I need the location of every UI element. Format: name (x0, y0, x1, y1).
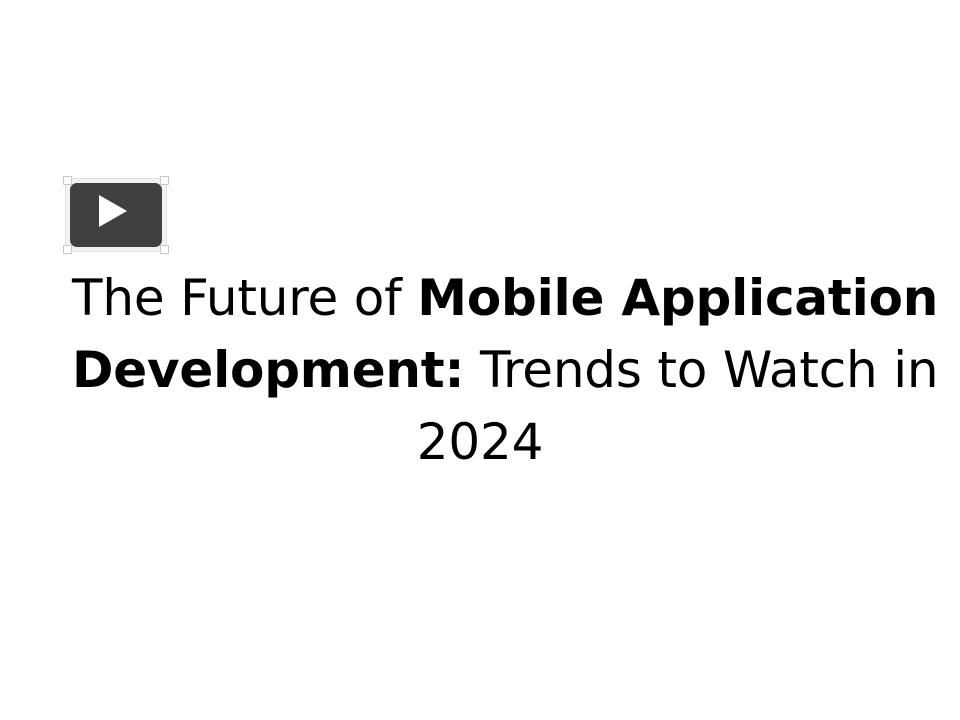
title-run-regular: 2024 (417, 413, 543, 471)
title-line-3: 2024 (72, 406, 888, 478)
title-run-bold: Development: (72, 341, 464, 399)
slide-canvas: The Future of Mobile Application Develop… (0, 0, 960, 720)
title-run-bold: Mobile Application (417, 269, 938, 327)
slide-title[interactable]: The Future of Mobile Application Develop… (72, 262, 888, 478)
title-run-regular: The Future of (72, 269, 417, 327)
media-placeholder[interactable] (66, 179, 166, 251)
title-run-regular: Trends to Watch in (464, 341, 938, 399)
resize-handle-top-left[interactable] (63, 176, 72, 185)
play-icon[interactable] (99, 195, 127, 227)
resize-handle-bottom-left[interactable] (63, 245, 72, 254)
resize-handle-top-right[interactable] (160, 176, 169, 185)
title-line-2: Development: Trends to Watch in (72, 334, 888, 406)
resize-handle-bottom-right[interactable] (160, 245, 169, 254)
title-line-1: The Future of Mobile Application (72, 262, 888, 334)
